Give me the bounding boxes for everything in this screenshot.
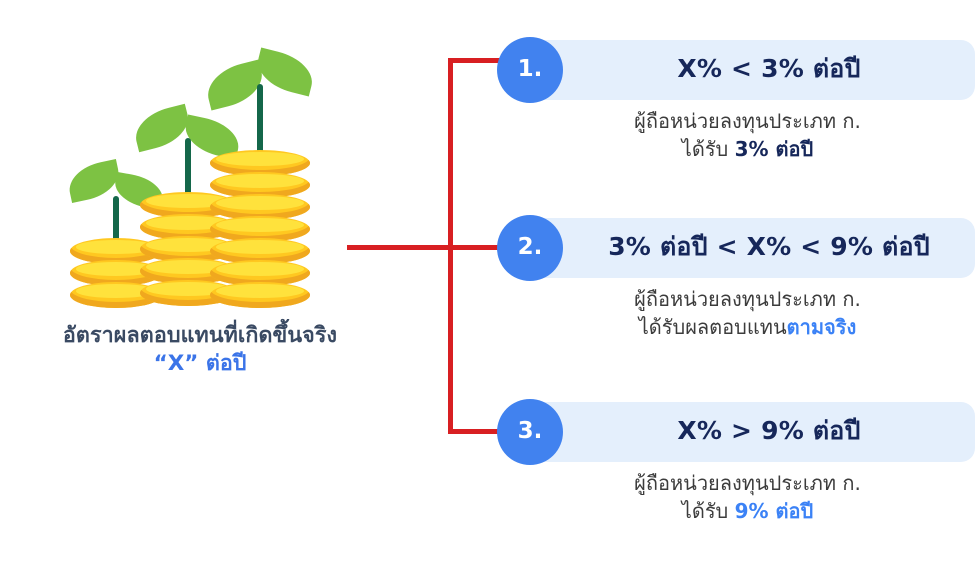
infographic-canvas: อัตราผลตอบแทนที่เกิดขึ้นจริง “X” ต่อปี 1… [0, 0, 975, 564]
description-line-2: ได้รับ 3% ต่อปี [520, 136, 975, 164]
description-line-1: ผู้ถือหน่วยลงทุนประเภท ก. [520, 286, 975, 314]
coin [210, 282, 310, 308]
description-plain-text: ได้รับผลตอบแทน [639, 315, 787, 339]
condition-description: ผู้ถือหน่วยลงทุนประเภท ก. ได้รับผลตอบแทน… [520, 286, 975, 341]
condition-heading: X% < 3% ต่อปี [563, 40, 975, 100]
condition-heading: X% > 9% ต่อปี [563, 402, 975, 462]
caption-line-1: อัตราผลตอบแทนที่เกิดขึ้นจริง [0, 322, 400, 350]
description-line-1: ผู้ถือหน่วยลงทุนประเภท ก. [520, 108, 975, 136]
description-plain-text: ได้รับ [682, 137, 735, 161]
condition-heading: 3% ต่อปี < X% < 9% ต่อปี [563, 218, 975, 278]
description-highlight: ตามจริง [787, 315, 857, 339]
step-number-badge: 2. [497, 215, 563, 281]
description-line-2: ได้รับ 9% ต่อปี [520, 498, 975, 526]
left-caption: อัตราผลตอบแทนที่เกิดขึ้นจริง “X” ต่อปี [0, 322, 400, 379]
step-number-badge: 3. [497, 399, 563, 465]
condition-description: ผู้ถือหน่วยลงทุนประเภท ก. ได้รับ 3% ต่อป… [520, 108, 975, 163]
step-number-badge: 1. [497, 37, 563, 103]
description-line-2: ได้รับผลตอบแทนตามจริง [520, 314, 975, 342]
caption-line-2: “X” ต่อปี [0, 350, 400, 378]
growing-coin-stacks-icon [60, 95, 320, 310]
condition-description: ผู้ถือหน่วยลงทุนประเภท ก. ได้รับ 9% ต่อป… [520, 470, 975, 525]
description-highlight: 9% ต่อปี [735, 499, 814, 523]
description-line-1: ผู้ถือหน่วยลงทุนประเภท ก. [520, 470, 975, 498]
connector-stem [347, 245, 453, 250]
description-plain-text: ได้รับ [682, 499, 735, 523]
coin-stack-large [210, 150, 310, 310]
description-highlight: 3% ต่อปี [735, 137, 814, 161]
